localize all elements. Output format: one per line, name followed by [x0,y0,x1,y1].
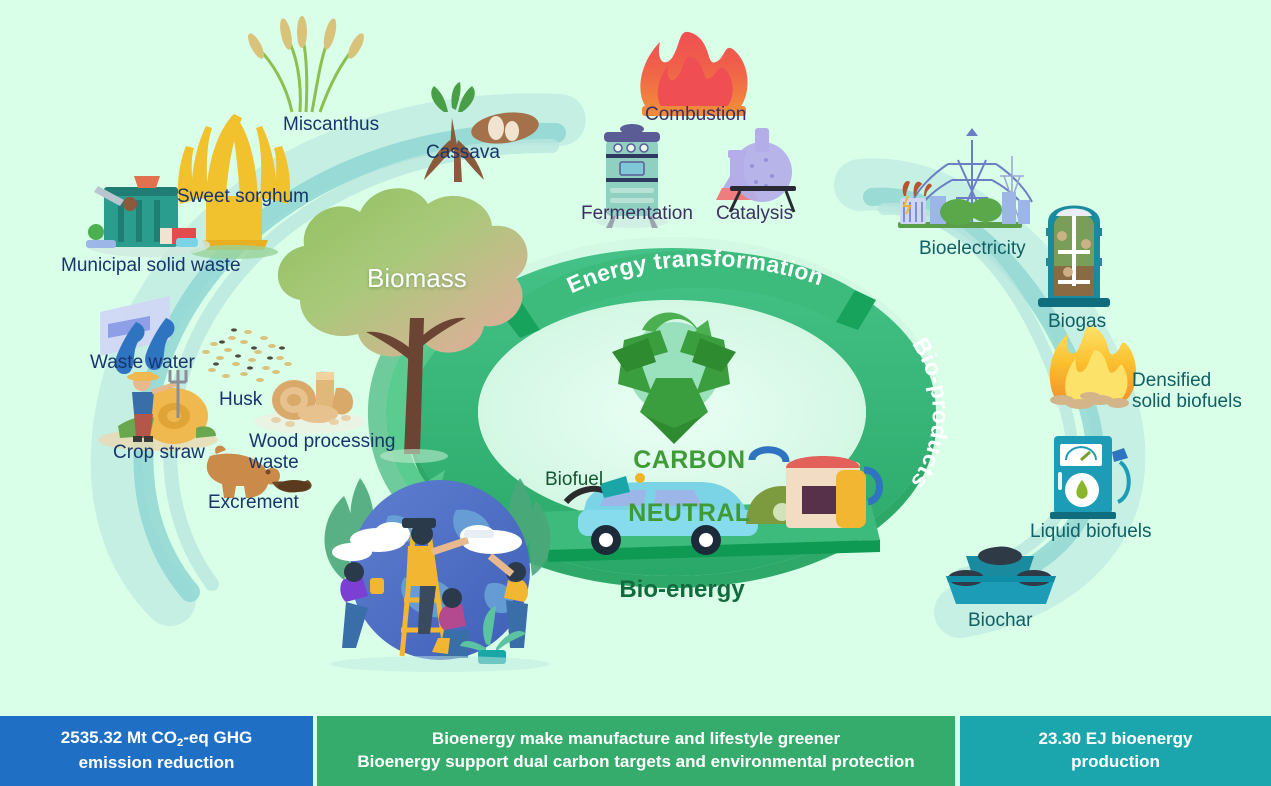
feedstock-label-0: Miscanthus [283,115,379,136]
ghg-value-suffix: -eq GHG [183,728,252,747]
banner-bioenergy-production: 23.30 EJ bioenergy production [960,716,1271,786]
feedstock-label-8-line-0: Excrement [208,492,299,513]
biomass-label: Biomass [367,264,467,292]
feedstock-label-3: Municipal solid waste [61,256,241,277]
bioproduct-label-3: Liquid biofuels [1030,522,1151,543]
feedstock-label-5: Husk [219,390,262,411]
bioproduct-label-3-line-0: Liquid biofuels [1030,521,1151,542]
transformation-label-0-line-0: Combustion [645,104,746,125]
bioproduct-label-2-line-0: Densified [1132,370,1211,391]
transformation-label-2: Catalysis [716,204,793,225]
banner-message-line2: Bioenergy support dual carbon targets an… [357,752,914,771]
ghg-value-prefix: 2535.32 Mt CO [61,728,177,747]
biofuel-label: Biofuel [545,470,603,491]
summary-banner: 2535.32 Mt CO2-eq GHG emission reduction… [0,716,1271,786]
bio-energy-label: Bio-energy [612,577,752,603]
transformation-label-2-line-0: Catalysis [716,203,793,224]
feedstock-label-4-line-0: Waste water [90,352,195,373]
arc-text-layer: Energy transformation Bio-products [0,0,1271,786]
energy-transformation-arc-text: Energy transformation [563,245,827,298]
feedstock-label-0-line-0: Miscanthus [283,114,379,135]
bioproduct-label-4: Biochar [968,611,1032,632]
feedstock-label-4: Waste water [90,353,195,374]
feedstock-label-8: Excrement [208,493,299,514]
bioproduct-label-2-line-1: solid biofuels [1132,391,1242,412]
bioproduct-label-1: Biogas [1048,312,1106,333]
bioproduct-label-2: Densifiedsolid biofuels [1132,371,1242,412]
carbon-neutral-line2: NEUTRAL [628,499,750,527]
feedstock-label-7: Wood processingwaste [249,432,395,473]
feedstock-label-6-line-0: Crop straw [113,442,205,463]
feedstock-label-7-line-0: Wood processing [249,431,395,452]
banner-ghg-reduction: 2535.32 Mt CO2-eq GHG emission reduction [0,716,313,786]
production-value-line1: 23.30 EJ bioenergy [1038,729,1192,748]
bioproduct-label-0-line-0: Bioelectricity [919,238,1026,259]
bioproduct-label-4-line-0: Biochar [968,610,1032,631]
banner-message-line1: Bioenergy make manufacture and lifestyle… [432,729,840,748]
bioproduct-label-1-line-0: Biogas [1048,311,1106,332]
feedstock-label-3-line-0: Municipal solid waste [61,255,241,276]
feedstock-label-2-line-0: Sweet sorghum [177,186,309,207]
production-value-line2: production [1071,752,1160,771]
carbon-neutral-label: CARBON NEUTRAL [612,421,752,526]
bio-products-arc-text: Bio-products [906,333,954,494]
feedstock-label-5-line-0: Husk [219,389,262,410]
bioproduct-label-0: Bioelectricity [919,239,1026,260]
feedstock-label-2: Sweet sorghum [177,187,309,208]
transformation-label-0: Combustion [645,105,746,126]
transformation-label-1: Fermentation [581,204,693,225]
transformation-label-1-line-0: Fermentation [581,203,693,224]
ghg-value-line2: emission reduction [79,753,235,772]
feedstock-label-1: Cassava [426,143,500,164]
carbon-neutral-line1: CARBON [633,446,745,474]
feedstock-label-7-line-1: waste [249,452,299,473]
feedstock-label-1-line-0: Cassava [426,142,500,163]
feedstock-label-6: Crop straw [113,443,205,464]
banner-message: Bioenergy make manufacture and lifestyle… [317,716,955,786]
